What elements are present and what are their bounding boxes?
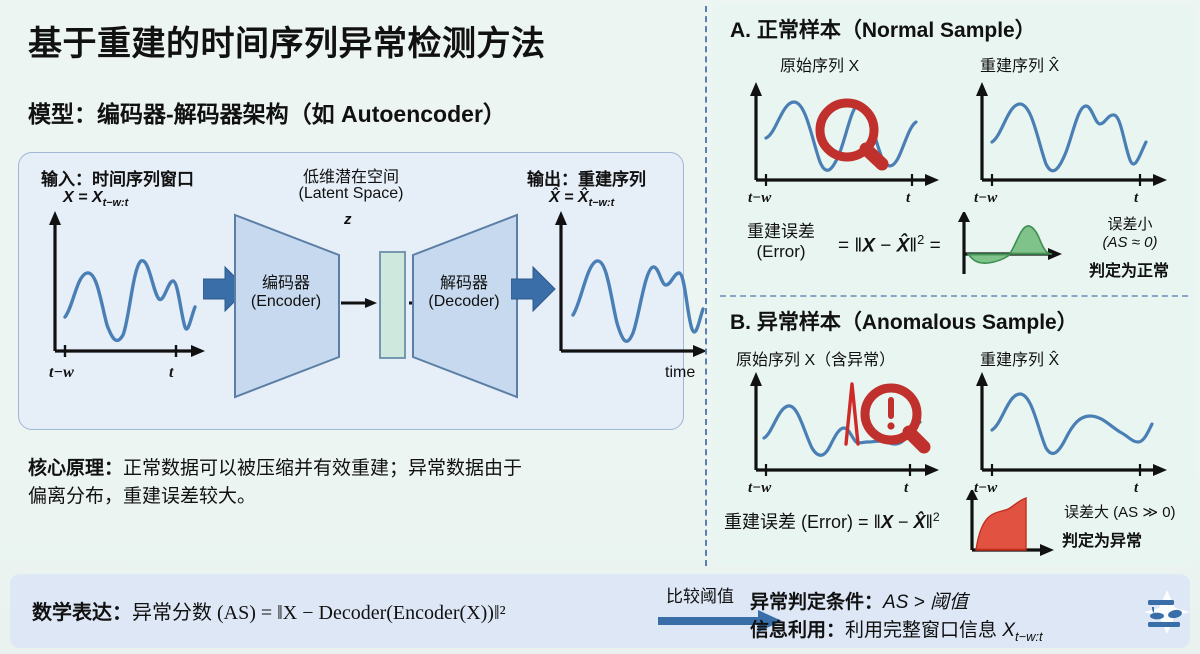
model-subtitle: 模型：编码器-解码器架构（如 Autoencoder） xyxy=(28,95,506,129)
panel-a-original-chart: t−w t xyxy=(734,82,954,207)
info-usage-row: 信息利用：利用完整窗口信息 Xt−w:t xyxy=(750,615,1043,644)
panel-b-note-line1: 误差大 (AS ≫ 0) xyxy=(1064,504,1176,521)
panel-a-reconstructed-chart: t−w t xyxy=(960,82,1182,207)
core-principle: 核心原理：正常数据可以被压缩并有效重建；异常数据由于 偏离分布，重建误差较大。 xyxy=(28,455,678,510)
panel-a-verdict: 判定为正常 xyxy=(1064,262,1194,281)
right-column: A. 正常样本（Normal Sample） 原始序列 X 重建序列 X̂ t−… xyxy=(712,4,1196,566)
svg-text:t: t xyxy=(1134,480,1139,496)
output-formula: X̂ = X̂t−w:t xyxy=(549,189,614,209)
svg-text:t: t xyxy=(904,480,909,496)
latent-heading-cn: 低维潜在空间 xyxy=(271,163,431,187)
panel-b-title: B. 异常样本（Anomalous Sample） xyxy=(730,306,1078,336)
math-expression: 数学表达：异常分数 (AS) = ‖X − Decoder(Encoder(X)… xyxy=(32,596,506,625)
core-principle-label: 核心原理： xyxy=(28,458,123,479)
svg-text:t: t xyxy=(1134,190,1139,206)
infographic-root: 基于重建的时间序列异常检测方法 模型：编码器-解码器架构（如 Autoencod… xyxy=(0,0,1200,654)
output-heading: 输出：重建序列 xyxy=(527,165,646,190)
panel-b-error-formula: 重建误差 (Error) = ‖X − X̂‖2 xyxy=(724,508,940,534)
book-logo-icon xyxy=(1142,588,1192,636)
math-label: 数学表达： xyxy=(32,602,132,624)
input-heading: 输入：时间序列窗口 xyxy=(41,165,194,190)
decoder-label-en: (Decoder) xyxy=(428,293,499,310)
magnifier-alert-icon xyxy=(865,388,924,447)
input-waveform-chart: t−w t xyxy=(33,211,213,401)
core-principle-line1: 正常数据可以被压缩并有效重建；异常数据由于 xyxy=(123,458,522,479)
decoder-label: 解码器 (Decoder) xyxy=(409,275,519,312)
math-expression-value: 异常分数 (AS) = ‖X − Decoder(Encoder(X))‖² xyxy=(132,602,506,624)
panel-a-error-formula: = ‖X − X̂‖2 = xyxy=(838,232,941,257)
panel-a-error-curve xyxy=(952,212,1074,284)
left-column: 基于重建的时间序列异常检测方法 模型：编码器-解码器架构（如 Autoencod… xyxy=(0,0,706,570)
panel-b-right-chart-title: 重建序列 X̂ xyxy=(980,346,1059,370)
svg-text:t−w: t−w xyxy=(748,190,772,206)
bottom-summary-bar: 数学表达：异常分数 (AS) = ‖X − Decoder(Encoder(X)… xyxy=(10,574,1190,648)
panel-a-note-line2: (AS ≈ 0) xyxy=(1103,234,1158,251)
vertical-divider xyxy=(705,6,707,566)
panel-a-left-chart-title: 原始序列 X xyxy=(780,52,859,76)
axis-label-end: t xyxy=(169,364,174,381)
architecture-box: 输入：时间序列窗口 X = Xt−w:t 低维潜在空间 (Latent Spac… xyxy=(18,152,684,430)
panel-a-error-label-cn: 重建误差 xyxy=(747,222,815,241)
info-usage-value: 利用完整窗口信息 Xt−w:t xyxy=(845,620,1043,641)
panel-b-note: 误差大 (AS ≫ 0) xyxy=(1064,504,1194,522)
panel-a-error-label-en: (Error) xyxy=(756,242,805,261)
encoder-label-cn: 编码器 xyxy=(262,275,310,292)
horizontal-divider xyxy=(720,295,1188,297)
encoder-label-en: (Encoder) xyxy=(251,293,321,310)
panel-b-reconstructed-chart: t−w t xyxy=(960,372,1182,497)
arrow-encoder-to-latent-icon xyxy=(341,295,379,311)
latent-heading-en: (Latent Space) xyxy=(271,185,431,203)
anomaly-condition-label: 异常判定条件： xyxy=(750,592,883,613)
panel-b-original-chart: t−w t xyxy=(734,372,954,497)
magnifier-icon xyxy=(820,103,882,164)
svg-text:t−w: t−w xyxy=(748,480,772,496)
panel-a-title: A. 正常样本（Normal Sample） xyxy=(730,14,1036,44)
encoder-label: 编码器 (Encoder) xyxy=(231,275,341,312)
core-principle-line2: 偏离分布，重建误差较大。 xyxy=(28,486,256,507)
decoder-label-cn: 解码器 xyxy=(440,275,488,292)
panel-a-note-line1: 误差小 xyxy=(1107,216,1152,233)
svg-text:t: t xyxy=(906,190,911,206)
axis-label-time: time xyxy=(665,364,695,381)
axis-label-start: t−w xyxy=(49,364,74,381)
latent-symbol: z xyxy=(344,211,352,228)
input-formula: X = Xt−w:t xyxy=(63,189,128,209)
panel-a-note: 误差小 (AS ≈ 0) xyxy=(1070,216,1190,252)
panel-a-error-label: 重建误差 (Error) xyxy=(726,222,836,261)
panel-b-error-curve xyxy=(958,490,1068,562)
panel-a-right-chart-title: 重建序列 X̂ xyxy=(980,52,1059,76)
page-title: 基于重建的时间序列异常检测方法 xyxy=(28,16,546,65)
svg-text:t−w: t−w xyxy=(974,190,998,206)
anomaly-condition-row: 异常判定条件：AS > 阈值 xyxy=(750,587,968,614)
panel-b-left-chart-title: 原始序列 X（含异常） xyxy=(736,346,895,370)
anomaly-condition-value: AS > 阈值 xyxy=(883,592,968,613)
latent-vector-box xyxy=(377,249,409,361)
compare-threshold-label: 比较阈值 xyxy=(666,582,734,607)
output-waveform-chart: time xyxy=(547,211,737,401)
panel-b-verdict: 判定为异常 xyxy=(1062,532,1196,551)
info-usage-label: 信息利用： xyxy=(750,620,845,641)
